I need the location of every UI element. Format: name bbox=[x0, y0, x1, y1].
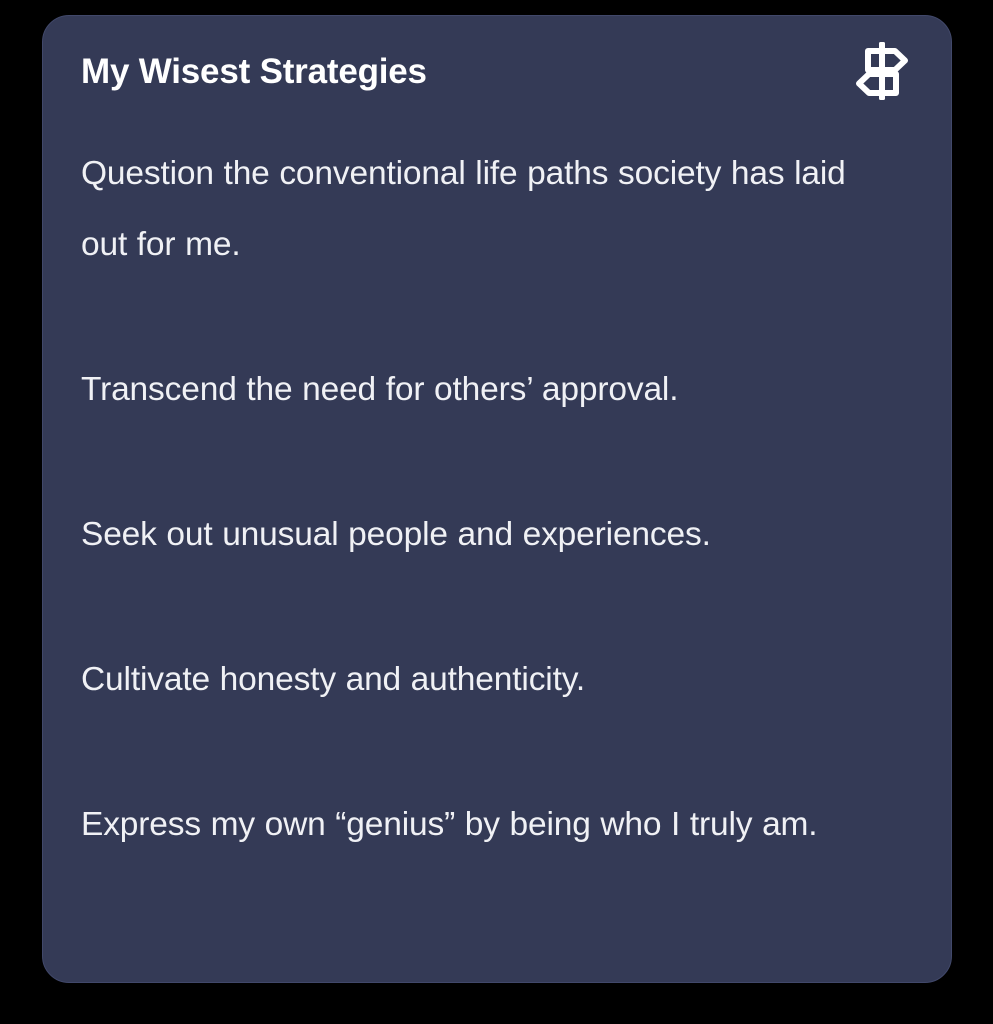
card-header: My Wisest Strategies bbox=[43, 16, 952, 126]
card-title: My Wisest Strategies bbox=[81, 54, 427, 89]
strategy-item: Seek out unusual people and experiences. bbox=[81, 499, 897, 570]
signpost-icon[interactable] bbox=[851, 41, 913, 101]
strategy-item: Cultivate honesty and authenticity. bbox=[81, 644, 897, 715]
strategy-item: Question the conventional life paths soc… bbox=[81, 138, 897, 280]
wisest-strategies-card: My Wisest Strategies Question the conven… bbox=[42, 15, 952, 983]
screen-root: My Wisest Strategies Question the conven… bbox=[0, 0, 993, 1024]
strategy-list: Question the conventional life paths soc… bbox=[81, 138, 897, 860]
strategy-item: Express my own “genius” by being who I t… bbox=[81, 789, 897, 860]
strategy-item: Transcend the need for others’ approval. bbox=[81, 354, 897, 425]
